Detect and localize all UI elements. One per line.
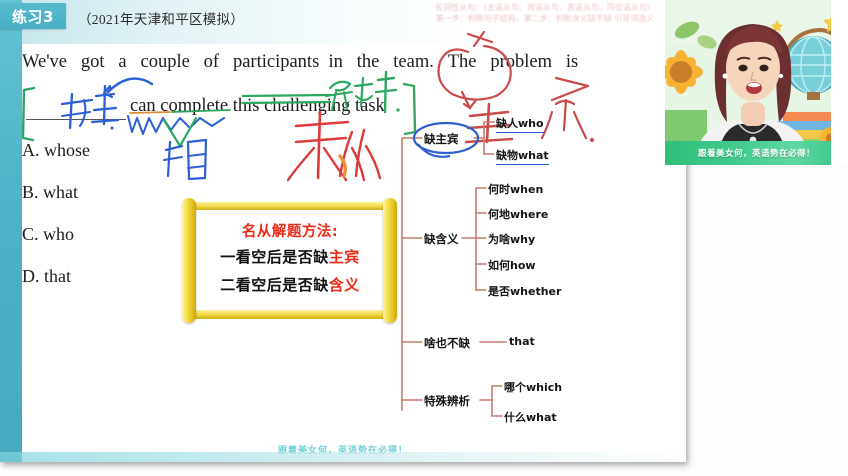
q1-w2: a	[118, 52, 126, 73]
mindmap-branch-2-leaf-5[interactable]: 是否whether	[488, 283, 561, 299]
leaf-how-en: how	[510, 259, 536, 272]
q1-w9: The	[448, 52, 477, 73]
leaf-whether-en: whether	[510, 285, 561, 298]
leaf-whether-cn: 是否	[488, 285, 510, 298]
option-c[interactable]: C. who	[22, 224, 90, 245]
mindmap-branch-3-label[interactable]: 啥也不缺	[424, 335, 470, 351]
mindmap-branch-2-leaf-3[interactable]: 为啥why	[488, 231, 535, 247]
q1-w1: got	[81, 52, 105, 73]
leaf-when-cn: 何时	[488, 183, 510, 196]
scroll-line-1-highlight: 主宾	[329, 248, 360, 266]
mindmap-branch-2-leaf-1[interactable]: 何时when	[488, 181, 543, 197]
slide-left-accent-strip	[0, 0, 22, 462]
leaf-1-en: who	[518, 117, 544, 130]
option-a-text: whose	[44, 140, 90, 160]
option-b-key: B.	[22, 182, 39, 202]
q1-w3: couple	[140, 52, 189, 73]
scroll-line-2-prefix: 二看空后是否缺	[220, 276, 329, 294]
leaf-how-cn: 如何	[488, 259, 510, 272]
webcam-banner: 跟着美女何，英语势在必得！	[665, 141, 848, 165]
webcam-overlay[interactable]: 跟着美女何，英语势在必得！	[665, 0, 848, 165]
screen-root: 练习3 （2021年天津和平区模拟） 名词性从句：（主语从句、宾语从句、表语从句…	[0, 0, 848, 476]
mindmap-branch-1-leaf-1[interactable]: 缺人who	[496, 115, 544, 133]
q1-w8: team.	[393, 52, 434, 73]
question-line-1: We've got a couple of participants in th…	[22, 52, 622, 73]
option-c-text: who	[43, 224, 74, 244]
q1-w7: the	[357, 52, 380, 73]
option-a-key: A.	[22, 140, 40, 160]
mindmap-branch-2-label[interactable]: 缺含义	[424, 231, 459, 247]
q1-w5: participants	[233, 52, 319, 73]
option-c-key: C.	[22, 224, 39, 244]
leaf-where-en: where	[510, 208, 548, 221]
scroll-line-2-highlight: 含义	[329, 276, 360, 294]
faded-header-note: 名词性从句：（主语从句、宾语从句、表语从句、同位语从句） 第一步：判断句子结构，…	[404, 2, 686, 28]
mindmap-branch-4-label[interactable]: 特殊辨析	[424, 393, 470, 409]
faded-header-note-line2: 第一步：判断句子结构，第二步：判断含义缺不缺 引导词选义	[404, 13, 686, 24]
option-a[interactable]: A. whose	[22, 140, 90, 161]
scroll-line-1: 一看空后是否缺主宾	[192, 246, 388, 267]
answer-blank-rule	[26, 119, 126, 120]
mindmap-branch-4-leaf-2[interactable]: 什么what	[504, 409, 557, 425]
question-line-2-text: can complete this challenging task	[130, 96, 385, 116]
faded-header-note-line1: 名词性从句：（主语从句、宾语从句、表语从句、同位语从句）	[404, 2, 686, 13]
webcam-banner-text: 跟着美女何，英语势在必得！	[698, 147, 815, 159]
leaf-that-en: that	[509, 335, 535, 348]
q1-w6: in	[329, 52, 343, 73]
mindmap: 缺主宾 缺人who 缺物what 缺含义 何时when 何地where 为啥wh…	[388, 110, 618, 430]
webcam-right-filler	[831, 0, 848, 165]
leaf-why-en: why	[510, 233, 535, 246]
mindmap-branch-4-leaf-1[interactable]: 哪个which	[504, 379, 562, 395]
scroll-line-1-prefix: 一看空后是否缺	[220, 248, 329, 266]
option-d[interactable]: D. that	[22, 266, 90, 287]
exercise-badge: 练习3	[0, 3, 66, 29]
scroll-title: 名从解题方法:	[192, 220, 388, 241]
option-b-text: what	[43, 182, 78, 202]
lecture-slide: 练习3 （2021年天津和平区模拟） 名词性从句：（主语从句、宾语从句、表语从句…	[0, 0, 686, 462]
answer-options: A. whose B. what C. who D. that	[22, 140, 90, 308]
q1-w11: is	[566, 52, 578, 73]
slide-bottom-gradient	[0, 452, 686, 462]
source-label: （2021年天津和平区模拟）	[78, 8, 244, 28]
scroll-line-2: 二看空后是否缺含义	[192, 274, 388, 295]
option-d-key: D.	[22, 266, 40, 286]
leaf-which-en: which	[526, 381, 562, 394]
leaf-what2-en: what	[526, 411, 557, 424]
q1-w0: We've	[22, 52, 67, 73]
option-d-text: that	[44, 266, 71, 286]
leaf-2-cn: 缺物	[496, 149, 518, 162]
mindmap-branch-3-leaf-1[interactable]: that	[509, 335, 535, 348]
method-scroll-card: 名从解题方法: 一看空后是否缺主宾 二看空后是否缺含义	[182, 198, 397, 323]
scroll-bar-top	[190, 202, 390, 210]
leaf-why-cn: 为啥	[488, 233, 510, 246]
leaf-1-cn: 缺人	[496, 117, 518, 130]
scroll-bar-bottom	[190, 310, 390, 319]
leaf-which-cn: 哪个	[504, 381, 526, 394]
mindmap-branch-2-leaf-4[interactable]: 如何how	[488, 257, 536, 273]
leaf-2-en: what	[518, 149, 549, 162]
q1-w4: of	[204, 52, 219, 73]
leaf-where-cn: 何地	[488, 208, 510, 221]
q1-w10: problem	[490, 52, 552, 73]
mindmap-branch-2-leaf-2[interactable]: 何地where	[488, 206, 548, 222]
option-b[interactable]: B. what	[22, 182, 90, 203]
mindmap-branch-1-label[interactable]: 缺主宾	[424, 131, 459, 147]
mindmap-branch-1-leaf-2[interactable]: 缺物what	[496, 147, 549, 165]
leaf-when-en: when	[510, 183, 543, 196]
leaf-what2-cn: 什么	[504, 411, 526, 424]
